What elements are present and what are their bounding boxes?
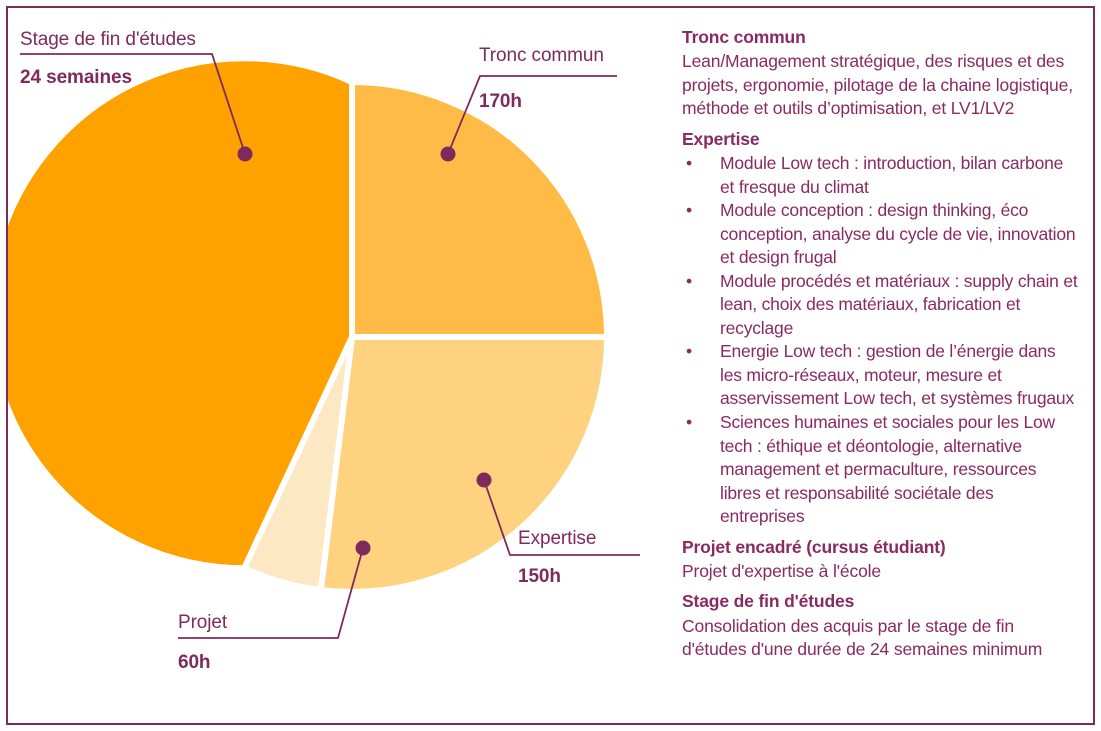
callout-label-stage-name: Stage de fin d'études xyxy=(20,30,196,49)
callout-label-expertise-name: Expertise xyxy=(518,529,596,548)
callout-label-expertise-value: 150h xyxy=(518,567,561,586)
section-heading-stage: Stage de fin d'études xyxy=(682,590,1081,613)
section-body-projet-encadre: Projet d'expertise à l'école xyxy=(682,560,1081,584)
section-heading-projet-encadre: Projet encadré (cursus étudiant) xyxy=(682,536,1081,559)
callout-label-projet-name: Projet xyxy=(178,613,227,632)
list-item: Sciences humaines et sociales pour les L… xyxy=(682,411,1081,529)
section-heading-expertise: Expertise xyxy=(682,128,1081,151)
callout-label-projet-value: 60h xyxy=(178,653,210,672)
section-body-tronc-commun: Lean/Management stratégique, des risques… xyxy=(682,50,1081,121)
pie-chart-svg xyxy=(8,8,668,723)
section-body-stage: Consolidation des acquis par le stage de… xyxy=(682,615,1081,662)
callout-label-tronc-commun-value: 170h xyxy=(479,92,522,111)
details-section-expertise: Expertise Module Low tech : introduction… xyxy=(682,128,1081,529)
expertise-bullet-list: Module Low tech : introduction, bilan ca… xyxy=(682,152,1081,529)
callout-dot-expertise[interactable] xyxy=(477,473,492,488)
section-heading-tronc-commun: Tronc commun xyxy=(682,26,1081,49)
list-item: Module Low tech : introduction, bilan ca… xyxy=(682,152,1081,199)
list-item: Module procédés et matériaux : supply ch… xyxy=(682,270,1081,341)
list-item: Energie Low tech : gestion de l’énergie … xyxy=(682,340,1081,411)
curriculum-details-panel: Tronc commun Lean/Management stratégique… xyxy=(674,8,1089,723)
callout-dot-tronc[interactable] xyxy=(441,147,456,162)
details-section-projet-encadre: Projet encadré (cursus étudiant) Projet … xyxy=(682,536,1081,584)
callout-dot-projet[interactable] xyxy=(356,541,371,556)
details-section-tronc-commun: Tronc commun Lean/Management stratégique… xyxy=(682,26,1081,121)
pie-chart-panel: Stage de fin d'études 24 semaines Tronc … xyxy=(8,8,668,723)
details-section-stage: Stage de fin d'études Consolidation des … xyxy=(682,590,1081,661)
callout-label-stage-value: 24 semaines xyxy=(20,68,132,87)
callout-dot-stage[interactable] xyxy=(238,147,253,162)
callout-label-tronc-commun-name: Tronc commun xyxy=(479,46,604,65)
list-item: Module conception : design thinking, éco… xyxy=(682,199,1081,270)
pie-slice-tronc-commun[interactable] xyxy=(352,82,607,337)
infographic-page: Stage de fin d'études 24 semaines Tronc … xyxy=(0,0,1101,731)
pie-slices xyxy=(8,58,607,592)
